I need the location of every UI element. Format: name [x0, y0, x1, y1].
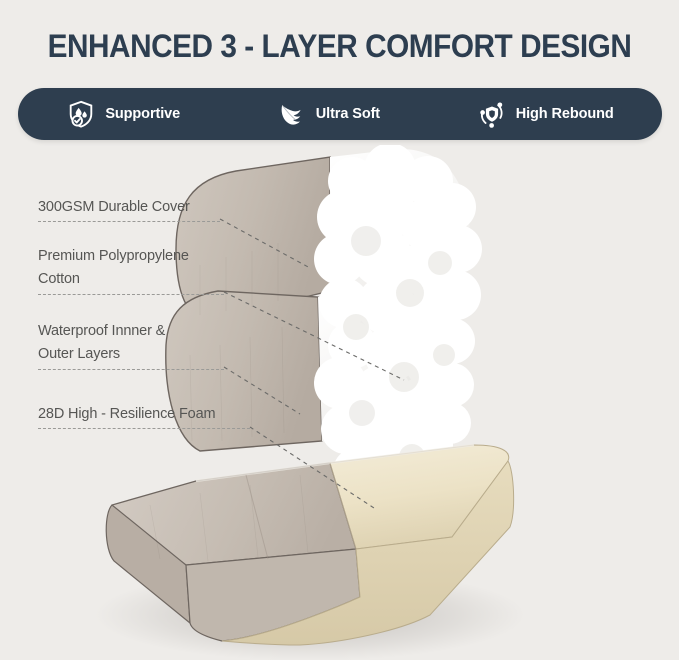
callout-text-line2: Cotton: [38, 271, 80, 287]
shield-orbit-icon: [477, 99, 507, 129]
badge-label: Supportive: [105, 106, 180, 122]
callout-300gsm-durable-cover: 300GSM Durable Cover: [38, 196, 220, 222]
callout-underline: [38, 369, 224, 370]
badge-ultra-soft[interactable]: Ultra Soft: [271, 99, 386, 129]
badge-label: Ultra Soft: [316, 106, 380, 122]
callout-waterproof-layers: Waterproof Innner & Outer Layers: [38, 320, 224, 370]
callout-text-line2: Outer Layers: [38, 346, 120, 362]
callout-underline: [38, 294, 224, 295]
badge-supportive[interactable]: Supportive: [60, 99, 186, 129]
callout-text: 300GSM Durable Cover: [38, 199, 190, 215]
callout-text-line1: Premium Polypropylene: [38, 248, 189, 264]
badge-label: High Rebound: [516, 106, 614, 122]
callout-28d-high-resilience-foam: 28D High - Resilience Foam: [38, 403, 250, 429]
feather-icon: [277, 99, 307, 129]
badge-high-rebound[interactable]: High Rebound: [471, 99, 620, 129]
feature-badge-bar: Supportive Ultra Soft High Rebound: [18, 88, 662, 140]
callout-underline: [38, 428, 250, 429]
callout-underline: [38, 221, 220, 222]
callout-text: 28D High - Resilience Foam: [38, 406, 215, 422]
shield-waterdrop-check-icon: [66, 99, 96, 129]
callout-text-line1: Waterproof Innner &: [38, 323, 165, 339]
callout-premium-polypropylene-cotton: Premium Polypropylene Cotton: [38, 245, 224, 295]
page-title: ENHANCED 3 - LAYER COMFORT DESIGN: [24, 28, 655, 65]
